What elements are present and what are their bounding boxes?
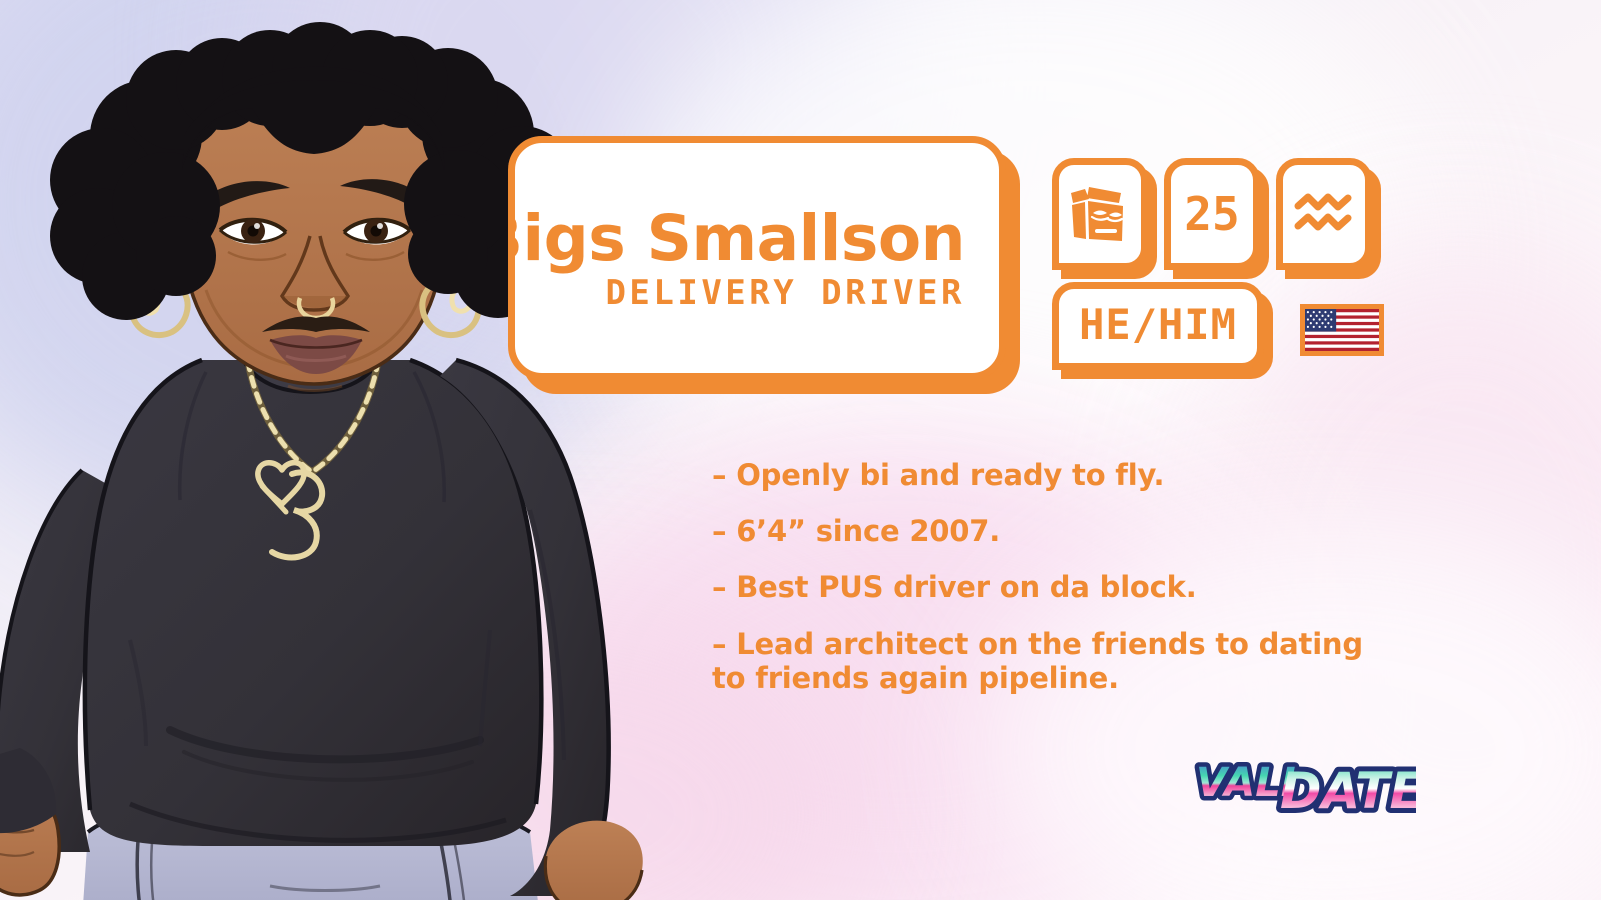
profile-bio: – Openly bi and ready to fly. – 6’4” sin… bbox=[712, 458, 1372, 695]
validate-logo: .lgtxt{font-family:"DejaVu Sans",sans-se… bbox=[1192, 744, 1416, 828]
logo-text-date: DATE bbox=[1280, 762, 1416, 820]
aquarius-icon bbox=[1293, 190, 1355, 238]
bio-line: – Openly bi and ready to fly. bbox=[712, 458, 1372, 492]
profile-name: Bigs Smallson bbox=[508, 207, 965, 270]
bio-line: – 6’4” since 2007. bbox=[712, 514, 1372, 548]
profile-age: 25 bbox=[1184, 191, 1239, 237]
cardboard-box-face-icon bbox=[1069, 185, 1131, 243]
badge-zodiac[interactable] bbox=[1276, 158, 1372, 270]
badge-age[interactable]: 25 bbox=[1164, 158, 1260, 270]
badge-job[interactable] bbox=[1052, 158, 1148, 270]
profile-role: DELIVERY DRIVER bbox=[605, 276, 965, 310]
profile-badges: 25 HE/HIM bbox=[1052, 158, 1372, 370]
profile-name-card: Bigs Smallson DELIVERY DRIVER bbox=[508, 136, 1020, 394]
badge-row-top: 25 bbox=[1052, 158, 1372, 270]
bio-line: – Best PUS driver on da block. bbox=[712, 570, 1372, 604]
name-card-body: Bigs Smallson DELIVERY DRIVER bbox=[508, 136, 1006, 380]
profile-pronouns: HE/HIM bbox=[1079, 304, 1237, 346]
badge-pronouns[interactable]: HE/HIM bbox=[1052, 282, 1264, 370]
us-flag-icon bbox=[1300, 304, 1384, 356]
bio-line: – Lead architect on the friends to datin… bbox=[712, 627, 1372, 695]
